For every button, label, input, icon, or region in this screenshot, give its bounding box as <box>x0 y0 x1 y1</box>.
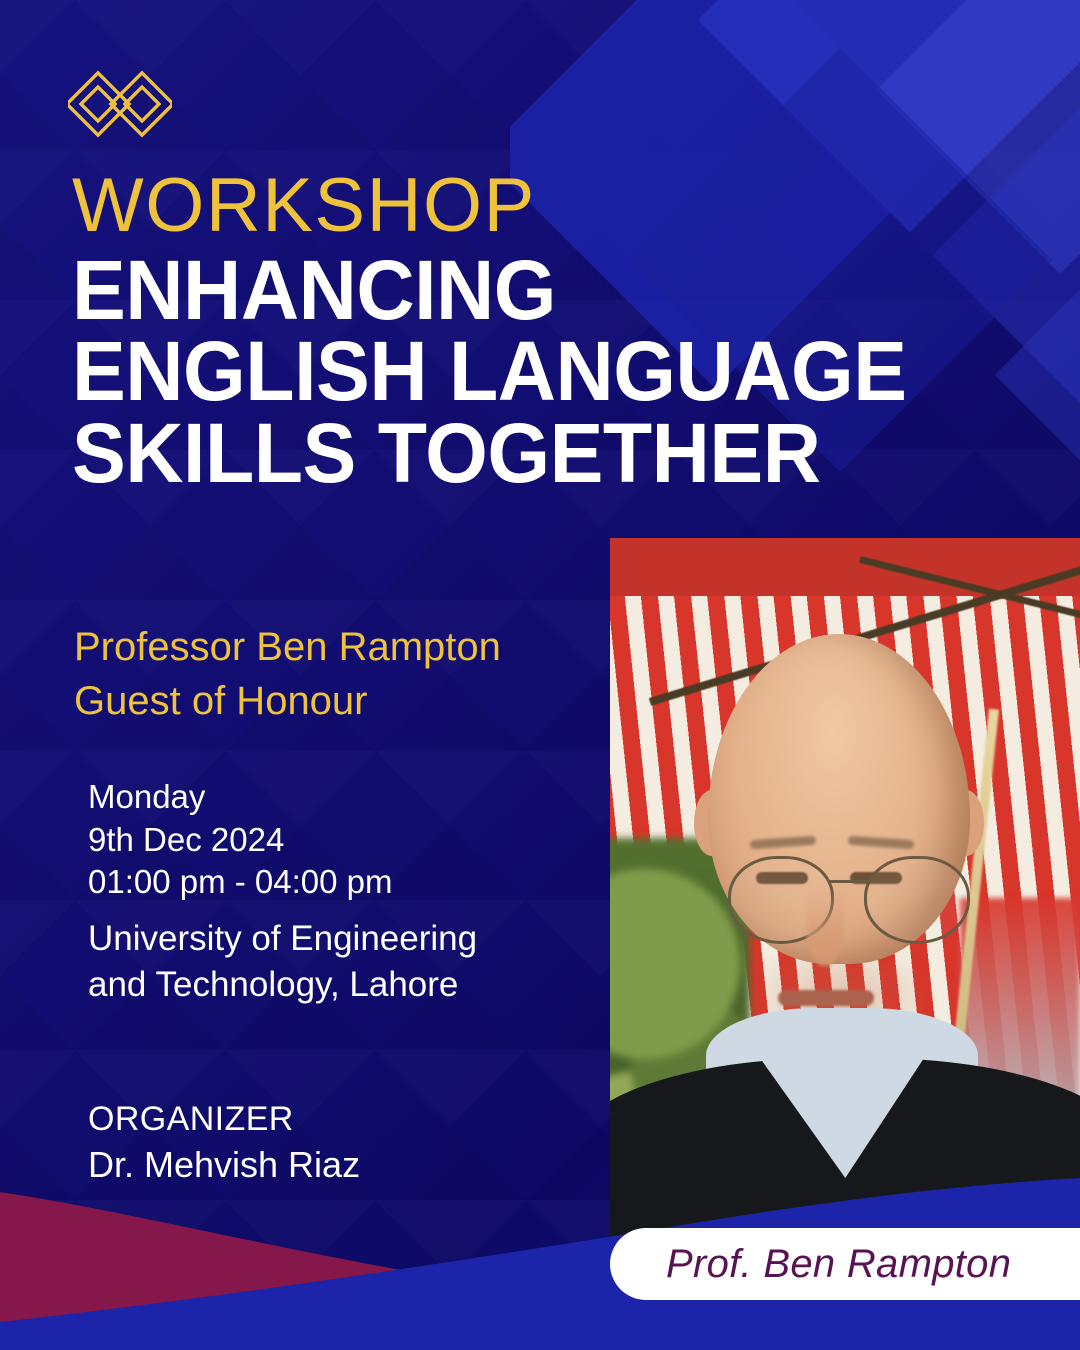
speaker-block: Professor Ben Rampton Guest of Honour <box>74 620 501 728</box>
event-day: Monday <box>88 778 588 817</box>
headline-block: WORKSHOP ENHANCING ENGLISH LANGUAGE SKIL… <box>72 168 992 494</box>
organizer-label: ORGANIZER <box>88 1098 360 1142</box>
speaker-role: Guest of Honour <box>74 674 501 728</box>
event-venue-line-2: and Technology, Lahore <box>88 962 588 1008</box>
interlocking-diamonds-logo-icon <box>68 68 172 150</box>
name-badge: Prof. Ben Rampton <box>610 1228 1080 1300</box>
organizer-block: ORGANIZER Dr. Mehvish Riaz <box>88 1098 360 1188</box>
event-venue-line-1: University of Engineering <box>88 916 588 962</box>
title-line-3: SKILLS TOGETHER <box>72 413 955 494</box>
photo-backdrop-stripes <box>610 538 1080 1250</box>
event-time: 01:00 pm - 04:00 pm <box>88 863 588 902</box>
workshop-poster: WORKSHOP ENHANCING ENGLISH LANGUAGE SKIL… <box>0 0 1080 1350</box>
kicker-workshop: WORKSHOP <box>72 168 992 244</box>
photo-nose <box>806 890 844 966</box>
title-line-1: ENHANCING <box>72 250 955 331</box>
name-badge-text: Prof. Ben Rampton <box>666 1242 1011 1287</box>
organizer-name: Dr. Mehvish Riaz <box>88 1142 360 1188</box>
photo-glasses <box>728 856 970 942</box>
speaker-photo <box>610 538 1080 1250</box>
photo-glasses-bridge <box>828 880 870 883</box>
page-title: ENHANCING ENGLISH LANGUAGE SKILLS TOGETH… <box>72 250 955 494</box>
speaker-name: Professor Ben Rampton <box>74 620 501 674</box>
photo-lens-right <box>864 856 970 944</box>
event-date: 9th Dec 2024 <box>88 821 588 860</box>
title-line-2: ENGLISH LANGUAGE <box>72 331 955 412</box>
event-details-block: Monday 9th Dec 2024 01:00 pm - 04:00 pm … <box>88 778 588 1008</box>
